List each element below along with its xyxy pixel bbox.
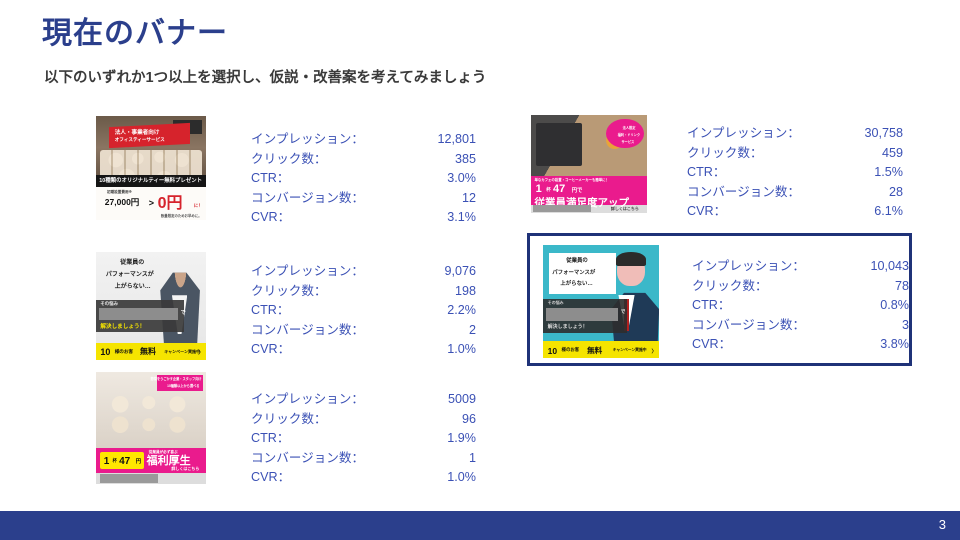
- metric-label-ctr: CTR：: [692, 296, 730, 316]
- metric-value-conversions: 12: [462, 189, 476, 209]
- banner-price-unit-small: 杯: [546, 187, 551, 193]
- banner-price-arrow: >: [149, 198, 154, 208]
- metric-label-clicks: クリック数：: [251, 150, 327, 170]
- banner-yellow-number: 10: [100, 347, 110, 357]
- metric-label-ctr: CTR：: [251, 169, 289, 189]
- banner-thumbnail-satisfaction-47yen[interactable]: 法人限定 福利・ドリンク サービス 単なカフェの設置・コーヒーメーカーも簡単に！…: [531, 115, 647, 213]
- metric-label-cvr: CVR：: [251, 468, 290, 488]
- metric-label-impressions: インプレッション：: [251, 390, 364, 410]
- banner-price-suffix: に！: [194, 203, 203, 209]
- metric-row: インプレッション： 30,758: [687, 124, 903, 144]
- banner-ribbon-line1: 法人・事業者向け: [115, 128, 160, 136]
- banner-price-unit: 円で: [572, 186, 583, 194]
- metric-row: CVR： 1.0%: [251, 468, 476, 488]
- banner-price-number: 1: [104, 456, 110, 467]
- metric-row: コンバージョン数： 28: [687, 183, 903, 203]
- metric-value-impressions: 30,758: [864, 124, 903, 144]
- metric-row: クリック数： 385: [251, 150, 476, 170]
- metric-row: CTR： 2.2%: [251, 301, 476, 321]
- metric-row: CVR： 3.8%: [692, 335, 909, 355]
- metric-value-cvr: 1.0%: [447, 468, 476, 488]
- slide-canvas: 現在のバナー 以下のいずれか1つ以上を選択し、仮説・改善案を考えてみましょう 法…: [0, 0, 960, 540]
- metric-label-ctr: CTR：: [687, 163, 725, 183]
- metric-row: インプレッション： 12,801: [251, 130, 476, 150]
- banner-yellow-arrow: 〉: [651, 348, 656, 355]
- banner-cta: 詳しくはこちら: [611, 206, 639, 212]
- banner-sub-line1: その悩み: [100, 301, 118, 307]
- banner-yellow-text2: キャンペーン実施中: [164, 349, 200, 355]
- metric-row: コンバージョン数： 2: [251, 321, 476, 341]
- banner-caption: 単なカフェの設置・コーヒーメーカーも簡単に！: [534, 177, 608, 182]
- metric-label-conversions: コンバージョン数：: [251, 449, 364, 469]
- banner-badge-line1: 法人限定: [623, 125, 636, 130]
- metric-value-cvr: 3.1%: [447, 208, 476, 228]
- banner-thumbnail-performance-illustration[interactable]: 従業員の パフォーマンスが 上がらない… その悩み で 解決しましょう！ 10 …: [543, 245, 659, 358]
- banner-headline-line1: 従業員の: [566, 256, 588, 264]
- metric-row: コンバージョン数： 12: [251, 189, 476, 209]
- banner-card-satisfaction-47yen[interactable]: 法人限定 福利・ドリンク サービス 単なカフェの設置・コーヒーメーカーも簡単に！…: [531, 115, 903, 219]
- banner-fineprint: 数量限定のためお早めに。: [161, 213, 202, 218]
- metric-value-impressions: 5009: [448, 390, 476, 410]
- metric-value-clicks: 198: [455, 282, 476, 302]
- metric-label-clicks: クリック数：: [251, 282, 327, 302]
- metrics-office-tea: インプレッション： 12,801 クリック数： 385 CTR： 3.0% コン…: [251, 130, 476, 228]
- page-title: 現在のバナー: [42, 8, 228, 52]
- banner-thumbnail-office-tea[interactable]: 法人・事業者向け オフィスティーサービス 10種類のオリジナルティー無料プレゼン…: [96, 116, 206, 220]
- metric-value-cvr: 1.0%: [447, 340, 476, 360]
- banner-thumbnail-performance-photo[interactable]: 従業員の パフォーマンスが 上がらない… その悩み で 解決しましょう！ 10 …: [96, 252, 206, 360]
- metric-row: CTR： 1.9%: [251, 429, 476, 449]
- banner-badge-line2: 10種類以上から選べる: [167, 383, 199, 388]
- banner-yellow-text1: 様のお客: [115, 349, 133, 355]
- metric-label-ctr: CTR：: [251, 301, 289, 321]
- banner-art-performance-photo: 従業員の パフォーマンスが 上がらない… その悩み で 解決しましょう！ 10 …: [96, 252, 206, 360]
- metric-value-impressions: 9,076: [444, 262, 476, 282]
- metric-row: CVR： 1.0%: [251, 340, 476, 360]
- banner-price-number: 1: [536, 183, 542, 195]
- banner-yellow-free: 無料: [140, 346, 156, 357]
- metric-label-cvr: CVR：: [687, 202, 726, 222]
- banner-art-satisfaction-47yen: 法人限定 福利・ドリンク サービス 単なカフェの設置・コーヒーメーカーも簡単に！…: [531, 115, 647, 213]
- metric-label-conversions: コンバージョン数：: [251, 321, 364, 341]
- metric-row: CVR： 3.1%: [251, 208, 476, 228]
- banner-price-number2: 47: [119, 456, 130, 467]
- banner-yellow-free: 無料: [587, 345, 602, 356]
- metric-row: コンバージョン数： 1: [251, 449, 476, 469]
- metric-value-clicks: 385: [455, 150, 476, 170]
- banner-badge-line1: 野菜をうごかす企業・スタッフ向け: [151, 376, 202, 381]
- banner-yellow-text1: 様のお客: [562, 347, 580, 353]
- page-subtitle: 以下のいずれか1つ以上を選択し、仮説・改善案を考えてみましょう: [44, 66, 486, 87]
- banner-sub-line3: 解決しましょう！: [548, 323, 588, 330]
- banner-card-performance-photo[interactable]: 従業員の パフォーマンスが 上がらない… その悩み で 解決しましょう！ 10 …: [96, 252, 476, 364]
- metric-row: CTR： 3.0%: [251, 169, 476, 189]
- banner-sub-line1: その悩み: [548, 300, 564, 306]
- banner-headline-line3: 上がらない…: [560, 279, 592, 287]
- metric-label-clicks: クリック数：: [687, 144, 763, 164]
- metric-label-conversions: コンバージョン数：: [251, 189, 364, 209]
- banner-headline-line2: パフォーマンスが: [106, 269, 154, 278]
- metric-row: クリック数： 96: [251, 410, 476, 430]
- metric-value-ctr: 1.5%: [874, 163, 903, 183]
- banner-headline-line2: パフォーマンスが: [552, 268, 595, 276]
- metric-label-impressions: インプレッション：: [692, 257, 805, 277]
- banner-price-before: 27,000円: [105, 196, 140, 208]
- banner-card-welfare-47yen[interactable]: 野菜をうごかす企業・スタッフ向け 10種類以上から選べる 1 杯 47 円 従業…: [96, 372, 476, 486]
- banner-badge-line3: サービス: [622, 139, 635, 144]
- metric-label-impressions: インプレッション：: [687, 124, 800, 144]
- page-number: 3: [939, 517, 946, 532]
- metric-label-cvr: CVR：: [251, 340, 290, 360]
- banner-headline-line3: 上がらない…: [115, 281, 151, 290]
- banner-price-number2: 47: [553, 183, 565, 195]
- banner-sub-line2: で: [621, 309, 626, 315]
- banner-badge-line2: 福利・ドリンク: [618, 132, 640, 137]
- metrics-performance-illustration: インプレッション： 10,043 クリック数： 78 CTR： 0.8% コンバ…: [692, 257, 909, 355]
- banner-ribbon-line2: オフィスティーサービス: [115, 137, 165, 143]
- metric-label-conversions: コンバージョン数：: [687, 183, 800, 203]
- banner-card-office-tea[interactable]: 法人・事業者向け オフィスティーサービス 10種類のオリジナルティー無料プレゼン…: [96, 116, 476, 226]
- banner-black-bar-text: 10種類のオリジナルティー無料プレゼント: [99, 176, 202, 184]
- banner-card-performance-illustration-selected[interactable]: 従業員の パフォーマンスが 上がらない… その悩み で 解決しましょう！ 10 …: [527, 233, 912, 366]
- banner-headline-line1: 従業員の: [120, 257, 144, 266]
- banner-art-performance-illustration: 従業員の パフォーマンスが 上がらない… その悩み で 解決しましょう！ 10 …: [543, 245, 659, 358]
- banner-yellow-arrow: 〉: [198, 348, 204, 356]
- metric-label-impressions: インプレッション：: [251, 262, 364, 282]
- banner-price-note: 初期設置費用※: [107, 190, 132, 195]
- metric-row: CTR： 1.5%: [687, 163, 903, 183]
- banner-price-unit-small: 杯: [113, 458, 117, 464]
- metric-row: CTR： 0.8%: [692, 296, 909, 316]
- metric-value-conversions: 3: [902, 316, 909, 336]
- metric-row: コンバージョン数： 3: [692, 316, 909, 336]
- footer-bar: 3: [0, 511, 960, 540]
- metric-label-conversions: コンバージョン数：: [692, 316, 805, 336]
- banner-art-office-tea: 法人・事業者向け オフィスティーサービス 10種類のオリジナルティー無料プレゼン…: [96, 116, 206, 220]
- banner-sub-line3: 解決しましょう！: [100, 322, 145, 330]
- metric-row: クリック数： 78: [692, 277, 909, 297]
- banner-price-after: 0円: [158, 189, 183, 213]
- banner-cta: 詳しくはこちら: [171, 466, 199, 472]
- metrics-performance-photo: インプレッション： 9,076 クリック数： 198 CTR： 2.2% コンバ…: [251, 262, 476, 360]
- metric-value-ctr: 0.8%: [880, 296, 909, 316]
- metric-label-impressions: インプレッション：: [251, 130, 364, 150]
- metric-label-cvr: CVR：: [692, 335, 731, 355]
- metric-label-cvr: CVR：: [251, 208, 290, 228]
- metrics-welfare-47yen: インプレッション： 5009 クリック数： 96 CTR： 1.9% コンバージ…: [251, 390, 476, 488]
- metric-value-clicks: 78: [895, 277, 909, 297]
- metric-value-ctr: 1.9%: [447, 429, 476, 449]
- metric-value-impressions: 10,043: [870, 257, 909, 277]
- metric-value-conversions: 1: [469, 449, 476, 469]
- metric-label-ctr: CTR：: [251, 429, 289, 449]
- metric-value-impressions: 12,801: [437, 130, 476, 150]
- metric-label-clicks: クリック数：: [692, 277, 768, 297]
- metric-value-ctr: 2.2%: [447, 301, 476, 321]
- banner-thumbnail-welfare-47yen[interactable]: 野菜をうごかす企業・スタッフ向け 10種類以上から選べる 1 杯 47 円 従業…: [96, 372, 206, 484]
- metric-label-clicks: クリック数：: [251, 410, 327, 430]
- banner-yellow-number: 10: [548, 346, 557, 356]
- metric-value-ctr: 3.0%: [447, 169, 476, 189]
- banner-yellow-text2: キャンペーン実施中: [613, 348, 647, 353]
- metric-value-clicks: 459: [882, 144, 903, 164]
- banner-art-welfare-47yen: 野菜をうごかす企業・スタッフ向け 10種類以上から選べる 1 杯 47 円 従業…: [96, 372, 206, 484]
- banner-sub-line2: で: [181, 309, 186, 316]
- metric-row: クリック数： 459: [687, 144, 903, 164]
- banner-price-unit: 円: [136, 457, 142, 465]
- metric-value-conversions: 2: [469, 321, 476, 341]
- metric-value-cvr: 6.1%: [874, 202, 903, 222]
- metric-row: インプレッション： 9,076: [251, 262, 476, 282]
- metric-row: インプレッション： 10,043: [692, 257, 909, 277]
- metric-row: クリック数： 198: [251, 282, 476, 302]
- metric-value-conversions: 28: [889, 183, 903, 203]
- metric-row: CVR： 6.1%: [687, 202, 903, 222]
- metric-value-clicks: 96: [462, 410, 476, 430]
- metrics-satisfaction-47yen: インプレッション： 30,758 クリック数： 459 CTR： 1.5% コン…: [687, 124, 903, 222]
- metric-row: インプレッション： 5009: [251, 390, 476, 410]
- metric-value-cvr: 3.8%: [880, 335, 909, 355]
